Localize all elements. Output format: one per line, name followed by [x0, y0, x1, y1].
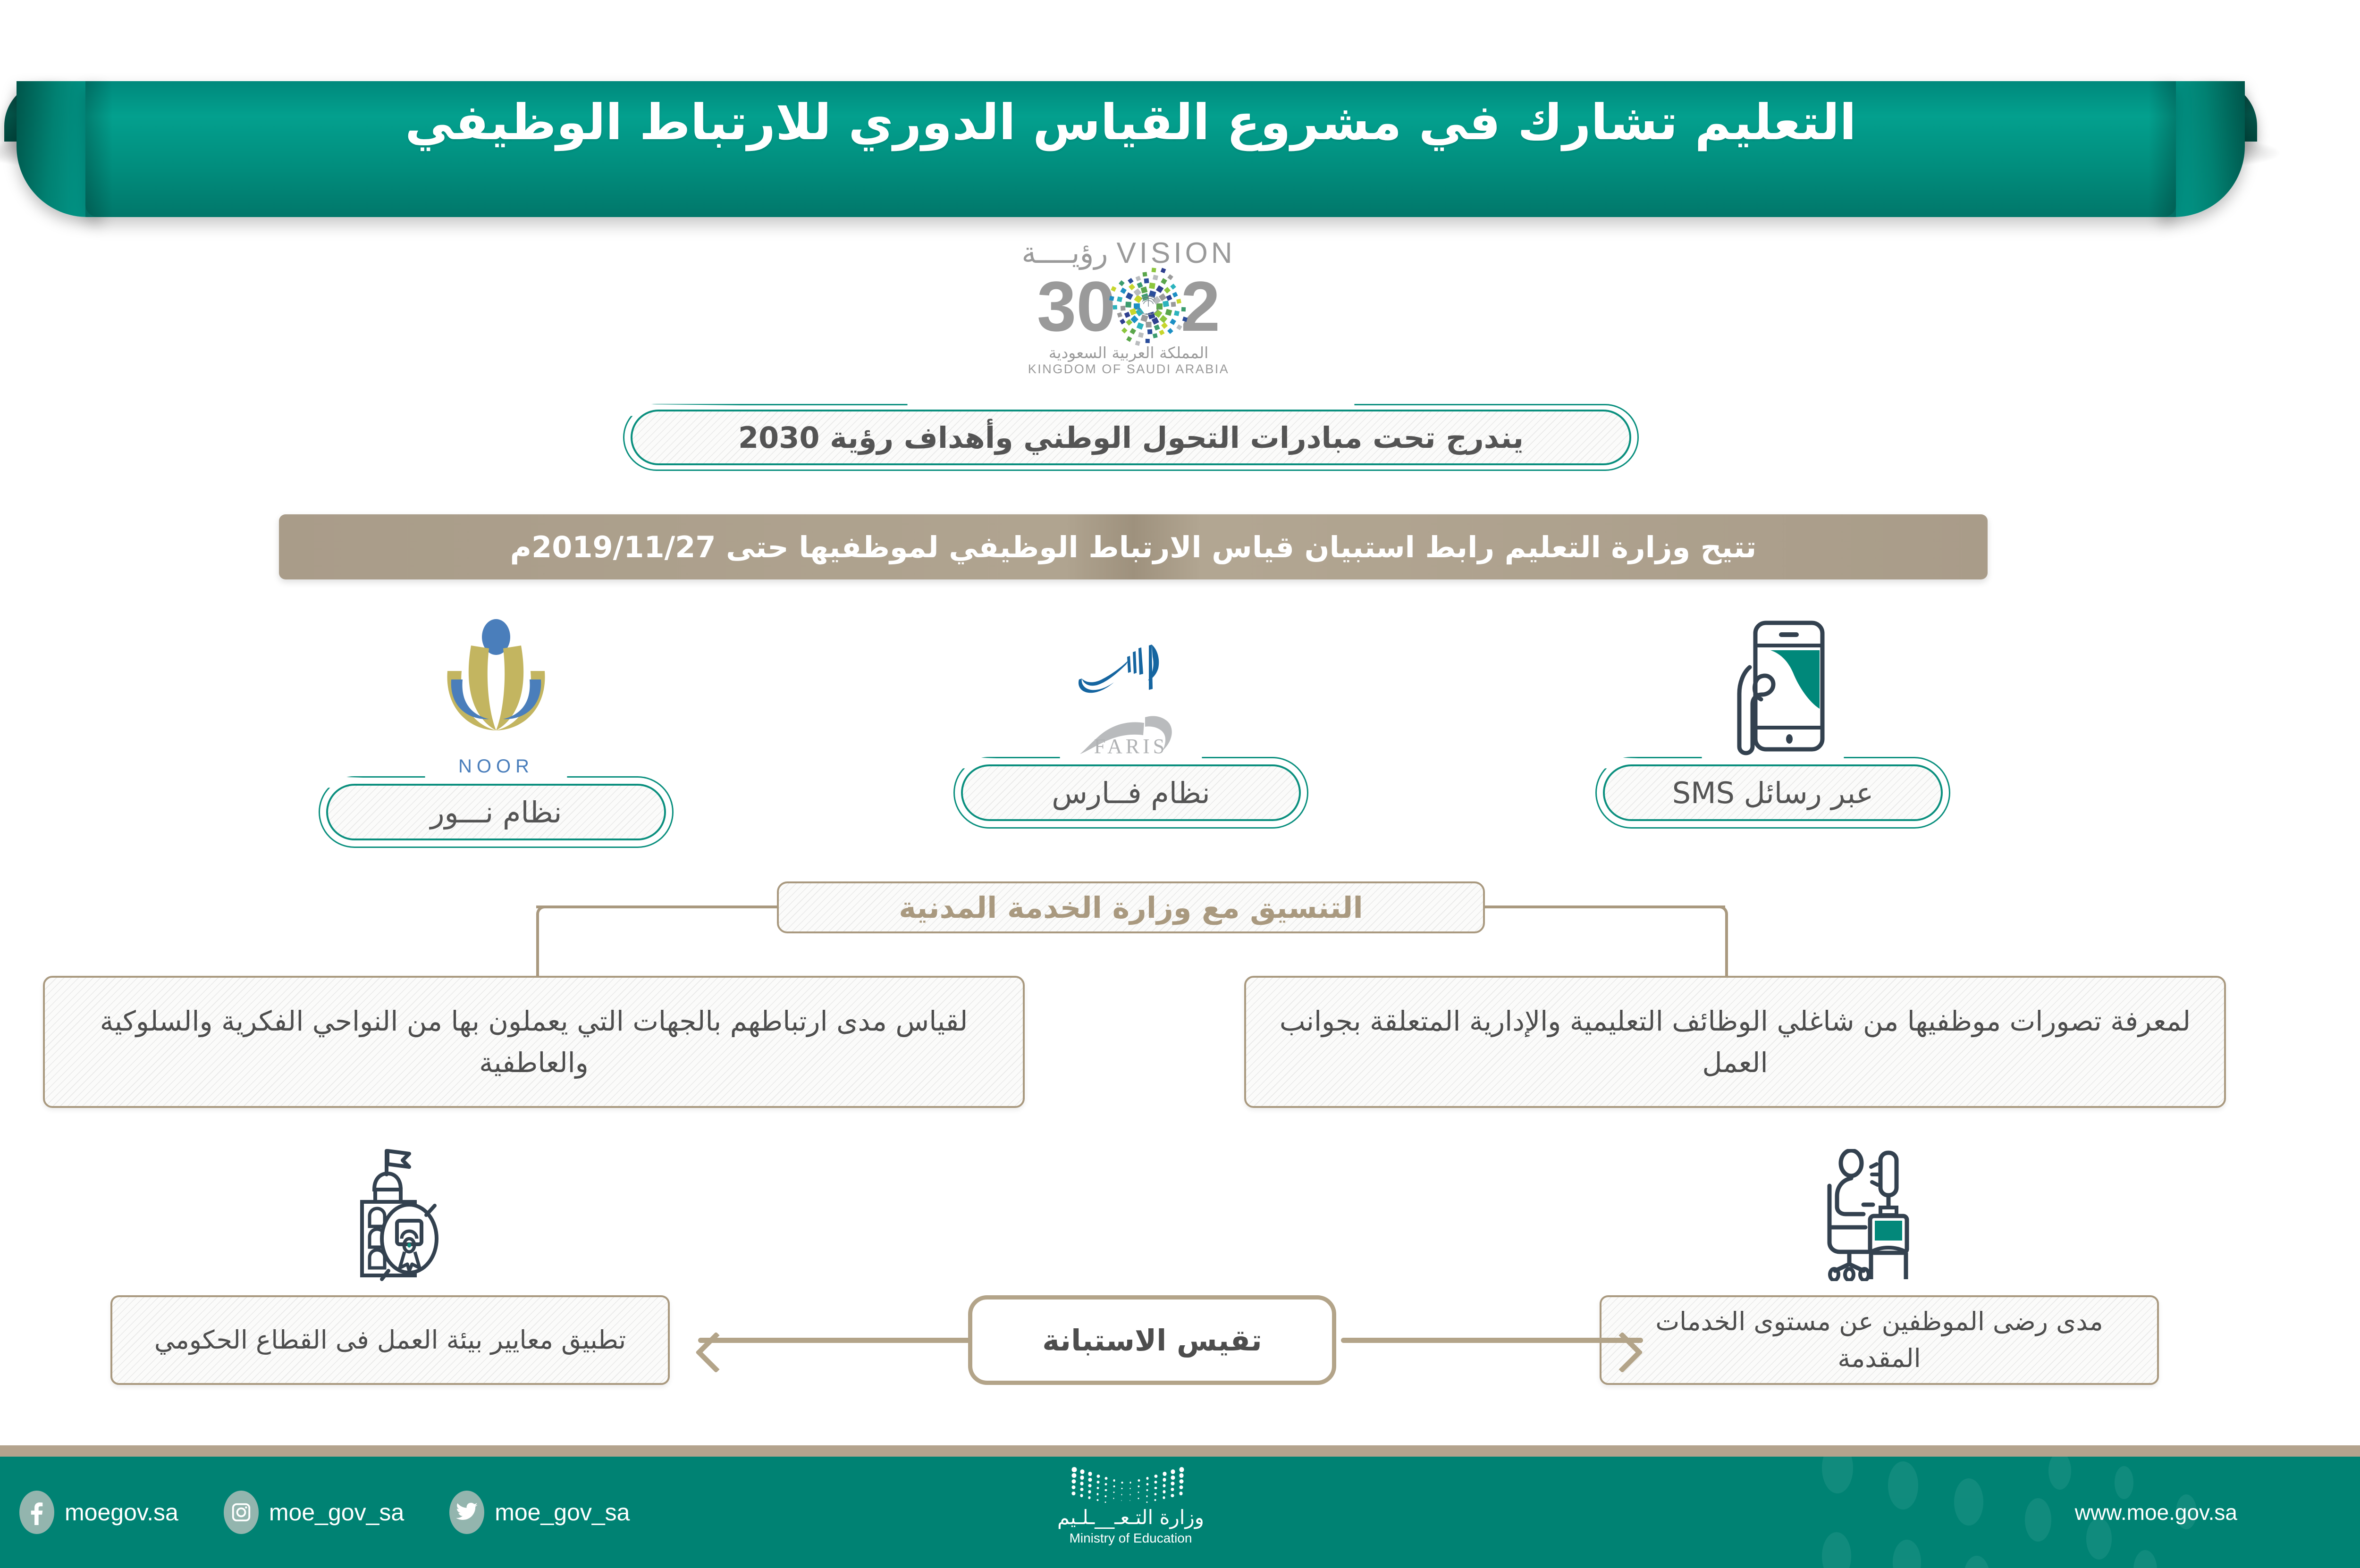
- vision-word-en: VISION: [1116, 236, 1235, 270]
- connector-elbow-right: [1700, 906, 1728, 934]
- channel-sms[interactable]: عبر رسائل SMS: [1575, 613, 1971, 849]
- coordination-right-description: لمعرفة تصورات موظفيها من شاغلي الوظائف ا…: [1244, 976, 2226, 1108]
- facebook-icon: [19, 1491, 54, 1534]
- vision-2030-logo: VISION رؤيــــة 2 30 المملكة العربية الس…: [1011, 236, 1247, 392]
- connector-drop-right: [1725, 932, 1728, 977]
- social-instagram[interactable]: moe_gov_sa: [224, 1491, 404, 1534]
- faris-logo-icon: FARIS: [1051, 613, 1211, 764]
- channel-faris-label[interactable]: نظام فــارس: [961, 764, 1301, 821]
- vision-year: 2 30: [1037, 271, 1220, 342]
- noor-logo-icon: [418, 613, 574, 764]
- connector-elbow-left: [536, 906, 565, 934]
- vision-word-ar: رؤيــــة: [1021, 235, 1108, 270]
- channel-sms-label[interactable]: عبر رسائل SMS: [1603, 764, 1943, 821]
- vision-digit-2: 2: [1181, 271, 1220, 342]
- instagram-handle: moe_gov_sa: [269, 1499, 404, 1526]
- svg-text:FARIS: FARIS: [1094, 735, 1168, 758]
- vision-kingdom-en: KINGDOM OF SAUDI ARABIA: [1028, 362, 1230, 377]
- vision-digit-30: 30: [1037, 271, 1116, 342]
- channels-row: NOOR نظام نـــور FARIS نظام فــارس: [0, 613, 2360, 849]
- noor-logo-wordmark: NOOR: [458, 756, 534, 777]
- social-twitter[interactable]: moe_gov_sa: [449, 1491, 630, 1534]
- ministry-name-en: Ministry of Education: [1070, 1531, 1192, 1546]
- outcome-right-box: مدى رضى الموظفين عن مستوى الخدمات المقدم…: [1600, 1295, 2159, 1385]
- social-facebook[interactable]: moegov.sa: [19, 1491, 178, 1534]
- footer: moegov.sa moe_gov_sa moe_gov_sa وزارة ال…: [0, 1457, 2360, 1568]
- vision-alignment-statement: يندرج تحت مبادرات التحول الوطني وأهداف ر…: [631, 410, 1631, 465]
- connector-drop-left: [536, 932, 539, 977]
- hand-phone-icon: [1704, 613, 1841, 764]
- survey-measures-label: تقيس الاستبانة: [968, 1295, 1336, 1385]
- page-title: التعليم تشارك في مشروع القياس الدوري للا…: [0, 92, 2360, 152]
- vision-mosaic-emblem-icon: [1114, 272, 1183, 341]
- connector-line-left: [536, 906, 779, 908]
- ministry-of-education-logo: وزارة التـعـ__ـلـيم Ministry of Educatio…: [1057, 1467, 1204, 1546]
- channel-noor[interactable]: NOOR نظام نـــور: [298, 613, 694, 849]
- channel-faris[interactable]: FARIS نظام فــارس: [933, 613, 1329, 849]
- footer-accent-bar: [0, 1445, 2360, 1457]
- ministry-name-ar: وزارة التـعـ__ـلـيم: [1057, 1506, 1204, 1529]
- outcome-left-box: تطبيق معايير بيئة العمل فى القطاع الحكوم…: [110, 1295, 670, 1385]
- arrow-left-line: [698, 1338, 1000, 1343]
- title-ribbon: التعليم تشارك في مشروع القياس الدوري للا…: [0, 71, 2360, 217]
- coordination-title: التنسيق مع وزارة الخدمة المدنية: [777, 881, 1485, 933]
- facebook-handle: moegov.sa: [65, 1499, 178, 1526]
- twitter-handle: moe_gov_sa: [495, 1499, 630, 1526]
- arrow-right-line: [1341, 1338, 1643, 1343]
- employee-at-desk-icon: [1804, 1147, 1945, 1283]
- vision-wordmark: VISION رؤيــــة: [1021, 236, 1235, 270]
- channel-noor-label[interactable]: نظام نـــور: [326, 784, 666, 840]
- social-links: moegov.sa moe_gov_sa moe_gov_sa: [19, 1457, 630, 1568]
- vision-kingdom-ar: المملكة العربية السعودية: [1049, 344, 1209, 362]
- coordination-left-description: لقياس مدى ارتباطهم بالجهات التي يعملون ب…: [43, 976, 1025, 1108]
- government-building-award-icon: [319, 1147, 461, 1283]
- twitter-icon: [449, 1491, 484, 1534]
- availability-banner: تتيح وزارة التعليم رابط استبيان قياس الا…: [279, 514, 1988, 579]
- moe-dot-pattern-icon: [1072, 1467, 1190, 1504]
- website-url[interactable]: www.moe.gov.sa: [2075, 1457, 2237, 1568]
- instagram-icon: [224, 1491, 259, 1534]
- connector-line-right: [1483, 906, 1725, 908]
